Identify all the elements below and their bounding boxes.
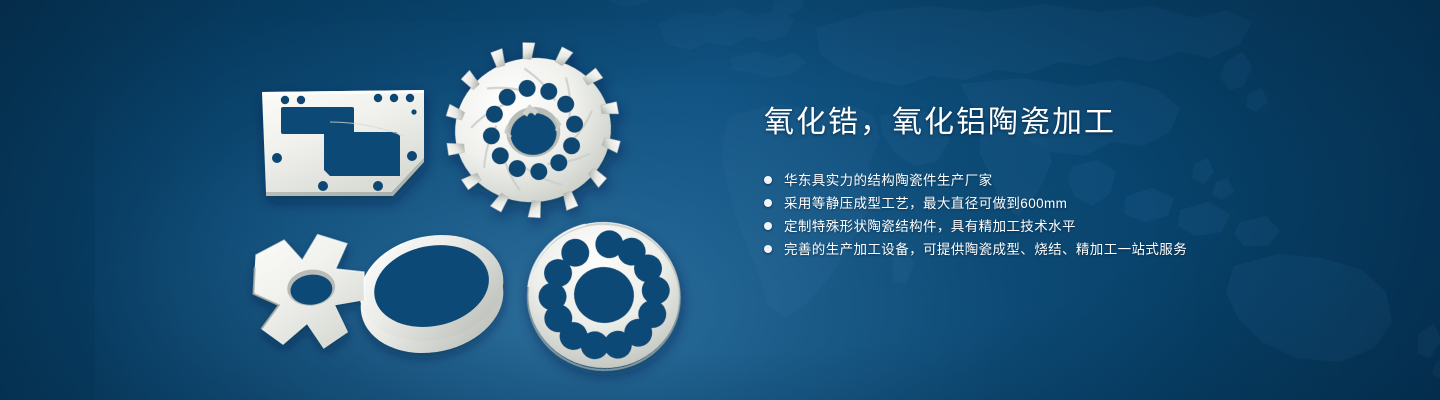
promo-banner: 氧化锆，氧化铝陶瓷加工 华东具实力的结构陶瓷件生产厂家 采用等静压成型工艺，最大…: [0, 0, 1440, 400]
list-item-label: 华东具实力的结构陶瓷件生产厂家: [784, 169, 993, 192]
product-photo-group: [0, 0, 720, 400]
list-item: 定制特殊形状陶瓷结构件，具有精加工技术水平: [764, 215, 1404, 238]
bullet-dot-icon: [764, 245, 772, 253]
list-item: 采用等静压成型工艺，最大直径可做到600mm: [764, 192, 1404, 215]
list-item-label: 采用等静压成型工艺，最大直径可做到600mm: [784, 192, 1067, 215]
list-item: 完善的生产加工设备，可提供陶瓷成型、烧结、精加工一站式服务: [764, 238, 1404, 261]
ceramic-cross-plate-and-rings: [248, 222, 513, 366]
bullet-dot-icon: [764, 199, 772, 207]
bullet-dot-icon: [764, 222, 772, 230]
bullet-dot-icon: [764, 176, 772, 184]
ceramic-impeller-disc: [433, 30, 634, 229]
page-title: 氧化锆，氧化铝陶瓷加工: [764, 104, 1404, 142]
feature-list: 华东具实力的结构陶瓷件生产厂家 采用等静压成型工艺，最大直径可做到600mm 定…: [764, 169, 1404, 261]
list-item: 华东具实力的结构陶瓷件生产厂家: [764, 169, 1404, 192]
list-item-label: 完善的生产加工设备，可提供陶瓷成型、烧结、精加工一站式服务: [784, 238, 1187, 261]
ceramic-perforated-ring-disc: [521, 214, 688, 377]
list-item-label: 定制特殊形状陶瓷结构件，具有精加工技术水平: [784, 215, 1076, 238]
ceramic-machined-plate: [262, 90, 424, 196]
banner-copy: 氧化锆，氧化铝陶瓷加工 华东具实力的结构陶瓷件生产厂家 采用等静压成型工艺，最大…: [764, 104, 1404, 261]
